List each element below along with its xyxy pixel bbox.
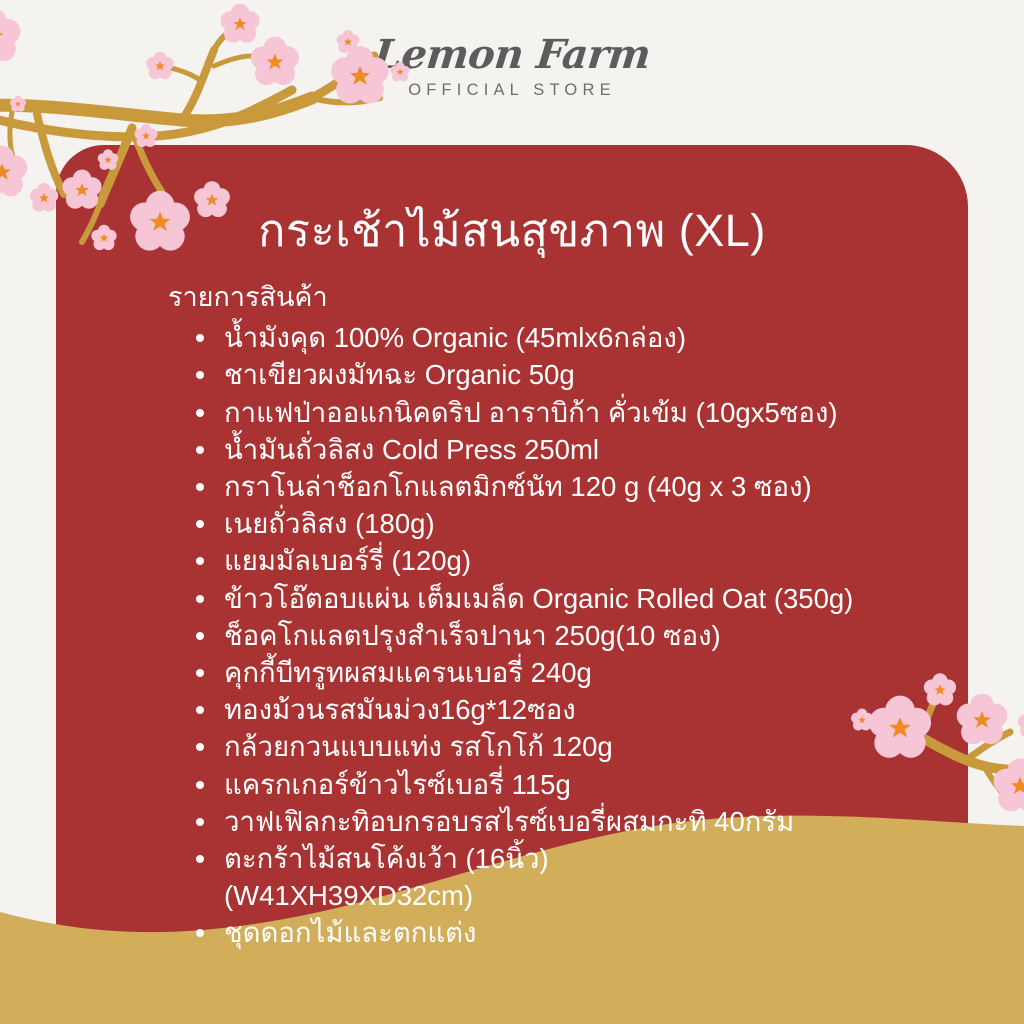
product-item-list: น้ำมังคุด 100% Organic (45mlx6กล่อง)ชาเข… — [56, 319, 968, 951]
list-item-label: ชุดดอกไม้และตกแต่ง — [224, 917, 476, 948]
list-item-label: น้ำมันถั่วลิสง Cold Press 250ml — [224, 434, 599, 465]
list-item-label: คุกกี้บีทรูทผสมแครนเบอรี่ 240g — [224, 657, 592, 688]
list-item-label: ชาเขียวผงมัทฉะ Organic 50g — [224, 359, 575, 390]
list-item: ข้าวโอ๊ตอบแผ่น เต็มเมล็ด Organic Rolled … — [196, 580, 968, 617]
bullet-icon — [196, 446, 204, 454]
bullet-icon — [196, 929, 204, 937]
list-item-label: กราโนล่าช็อกโกแลตมิกซ์นัท 120 g (40g x 3… — [224, 471, 812, 502]
bullet-icon — [196, 818, 204, 826]
list-item: น้ำมันถั่วลิสง Cold Press 250ml — [196, 431, 968, 468]
list-item: เนยถั่วลิสง (180g) — [196, 505, 968, 542]
bullet-icon — [196, 743, 204, 751]
list-item-label: กาแฟป่าออแกนิคดริป อาราบิก้า คั่วเข้ม (1… — [224, 397, 838, 428]
cherry-blossom-branch-bottom-right — [834, 662, 1024, 822]
list-item-label: แยมมัลเบอร์รี่ (120g) — [224, 545, 471, 576]
bullet-icon — [196, 781, 204, 789]
list-item: ตะกร้าไม้สนโค้งเว้า (16นิ้ว) (W41XH39XD3… — [196, 840, 968, 914]
bullet-icon — [196, 706, 204, 714]
list-item-label: ข้าวโอ๊ตอบแผ่น เต็มเมล็ด Organic Rolled … — [224, 583, 853, 614]
brand-script-name: Lemon Farm — [372, 34, 653, 76]
list-item-label: ช็อคโกแลตปรุงสำเร็จปานา 250g(10 ซอง) — [224, 620, 721, 651]
list-item-label: วาฟเฟิลกะทิอบกรอบรสไรซ์เบอรี่ผสมกะทิ 40ก… — [224, 806, 794, 837]
bullet-icon — [196, 520, 204, 528]
bullet-icon — [196, 595, 204, 603]
branch-stems — [0, 24, 380, 242]
list-item: กราโนล่าช็อกโกแลตมิกซ์นัท 120 g (40g x 3… — [196, 468, 968, 505]
bullet-icon — [196, 371, 204, 379]
bullet-icon — [196, 855, 204, 863]
bullet-icon — [196, 632, 204, 640]
list-item: ช็อคโกแลตปรุงสำเร็จปานา 250g(10 ซอง) — [196, 617, 968, 654]
bullet-icon — [196, 483, 204, 491]
list-item: กาแฟป่าออแกนิคดริป อาราบิก้า คั่วเข้ม (1… — [196, 394, 968, 431]
blossom — [220, 4, 259, 43]
list-item: แยมมัลเบอร์รี่ (120g) — [196, 542, 968, 579]
cherry-blossom-branch-top-left — [0, 0, 412, 264]
list-item-label: ทองม้วนรสมันม่วง16g*12ซอง — [224, 694, 576, 725]
list-item-label: แครกเกอร์ข้าวไรซ์เบอรี่ 115g — [224, 769, 571, 800]
promo-banner: Lemon Farm OFFICIAL STORE กระเช้าไม้สนสุ… — [0, 0, 1024, 1024]
bullet-icon — [196, 409, 204, 417]
list-item-label: กล้วยกวนแบบแท่ง รสโกโก้ 120g — [224, 731, 613, 762]
bullet-icon — [196, 669, 204, 677]
list-item: ชุดดอกไม้และตกแต่ง — [196, 914, 968, 951]
list-item: ชาเขียวผงมัทฉะ Organic 50g — [196, 356, 968, 393]
list-item-label: เนยถั่วลิสง (180g) — [224, 508, 435, 539]
list-item-label: น้ำมังคุด 100% Organic (45mlx6กล่อง) — [224, 322, 686, 353]
list-item-label: ตะกร้าไม้สนโค้งเว้า (16นิ้ว) (W41XH39XD3… — [224, 843, 549, 911]
list-heading: รายการสินค้า — [56, 281, 968, 313]
list-item: น้ำมังคุด 100% Organic (45mlx6กล่อง) — [196, 319, 968, 356]
bullet-icon — [196, 334, 204, 342]
bullet-icon — [196, 557, 204, 565]
